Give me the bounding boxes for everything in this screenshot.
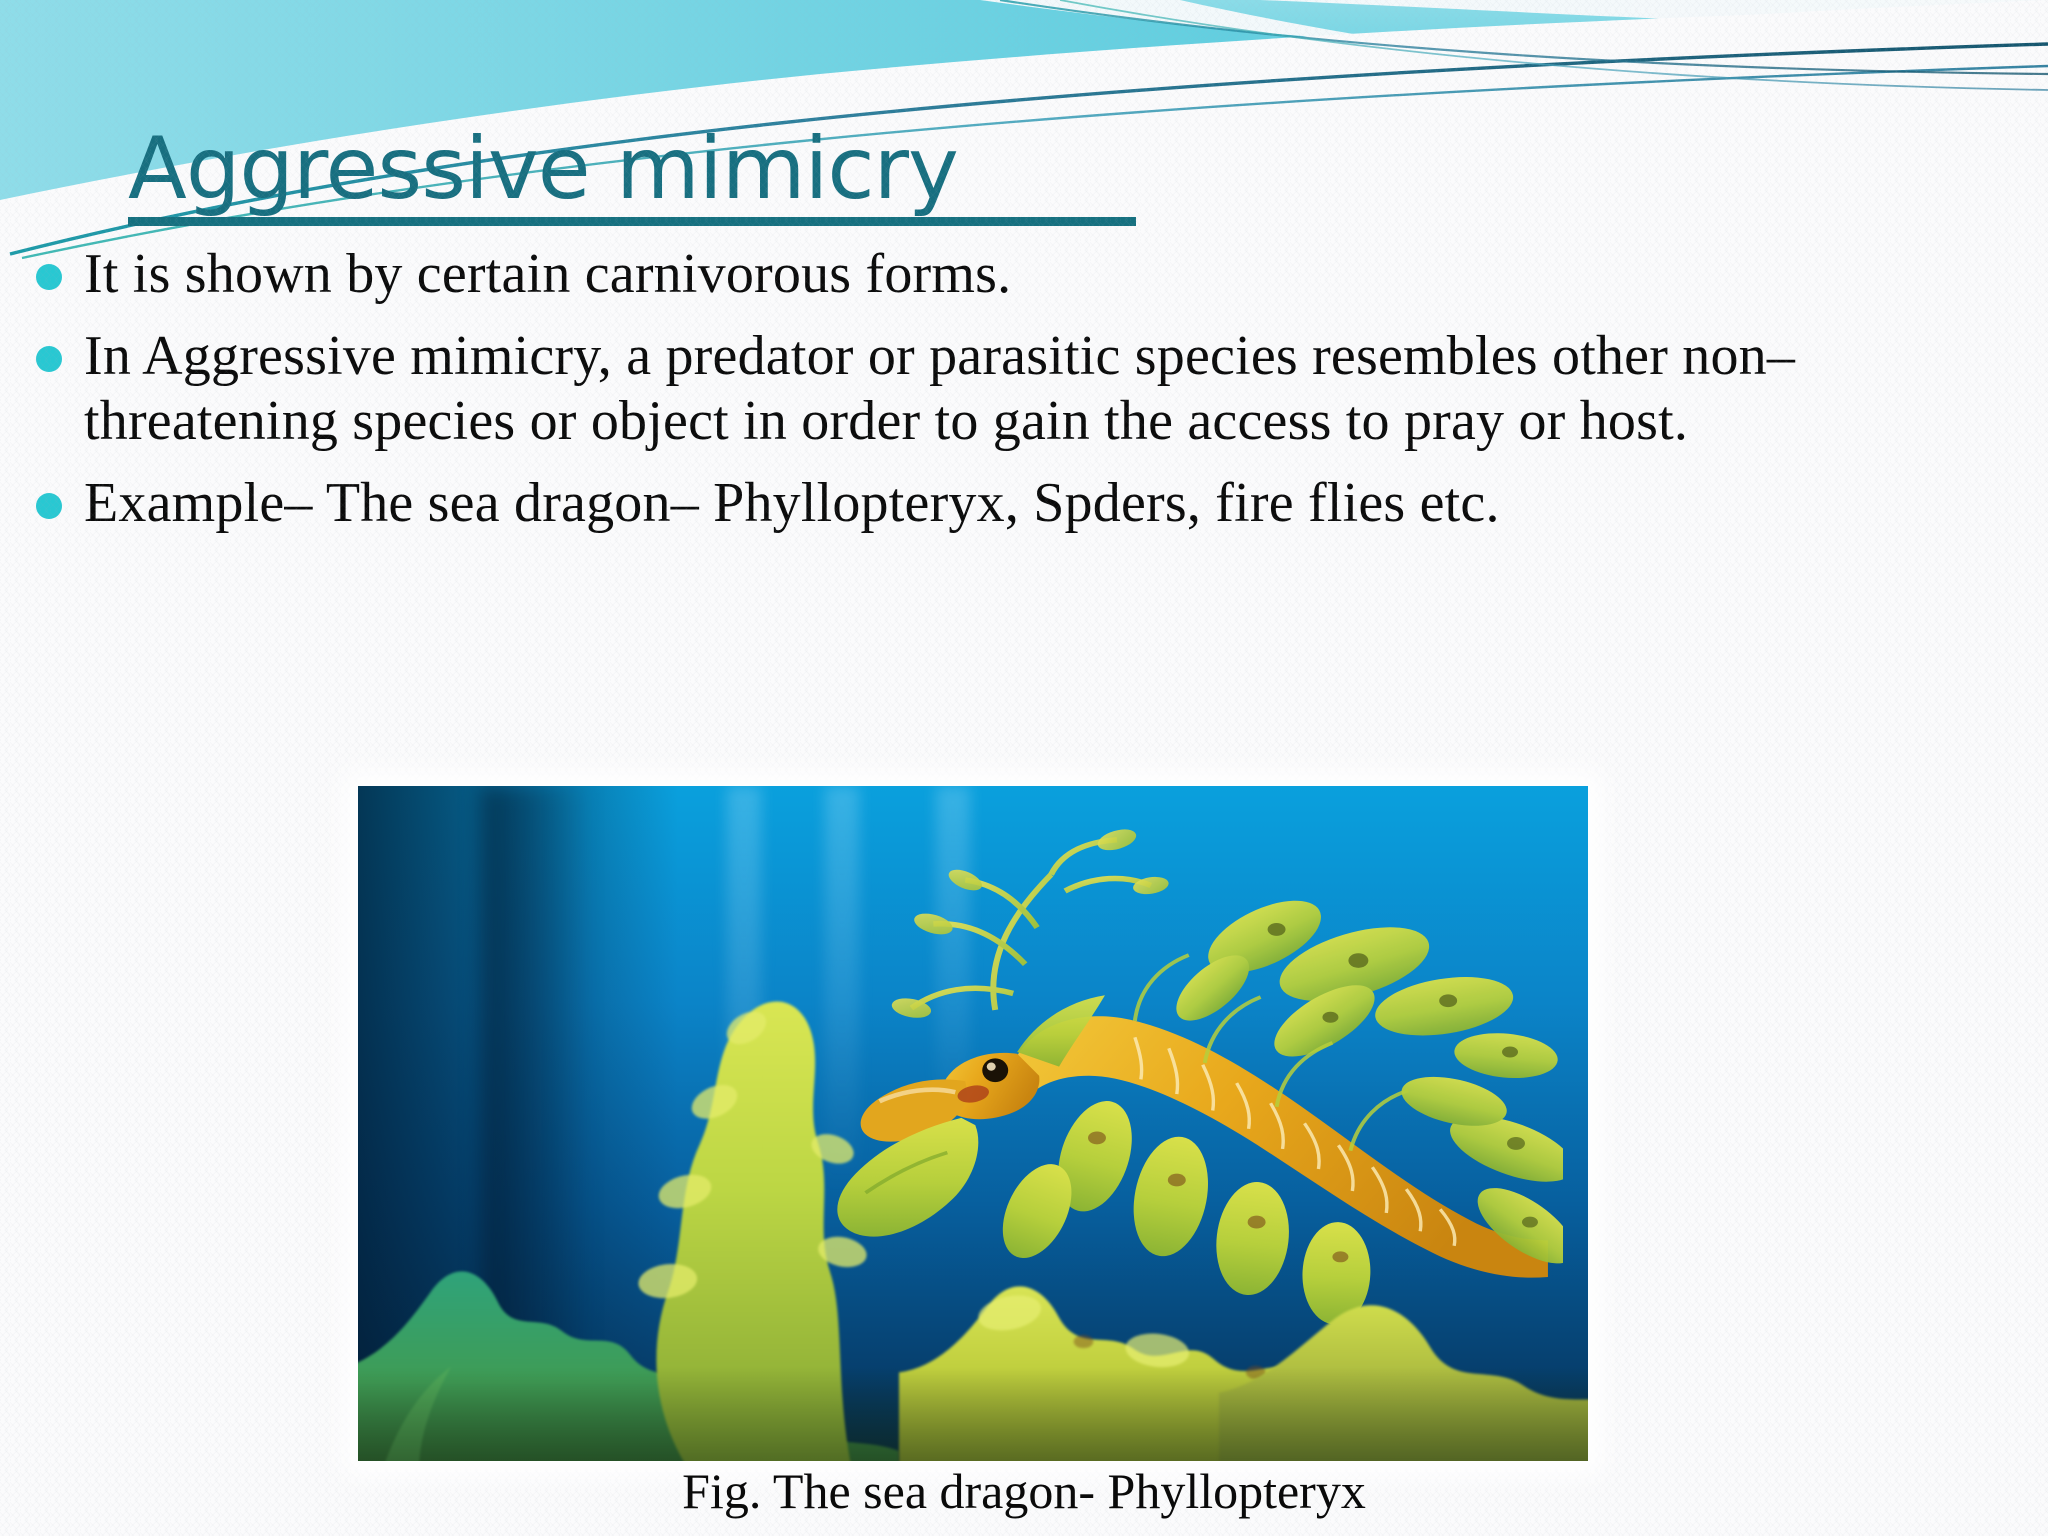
content-placeholder: It is shown by certain carnivorous forms… bbox=[18, 242, 2028, 552]
bullet-dot-icon bbox=[36, 493, 62, 519]
slide: Aggressive mimicry It is shown by certai… bbox=[0, 0, 2048, 1536]
sea-dragon-photo bbox=[358, 786, 1588, 1461]
list-item-text: Example– The sea dragon– Phyllopteryx, S… bbox=[84, 471, 1500, 537]
bullet-dot-icon bbox=[36, 264, 62, 290]
list-item: It is shown by certain carnivorous forms… bbox=[18, 242, 2028, 308]
list-item: In Aggressive mimicry, a predator or par… bbox=[18, 324, 2028, 455]
list-item-text: In Aggressive mimicry, a predator or par… bbox=[84, 324, 2024, 455]
figure-caption: Fig. The sea dragon- Phyllopteryx bbox=[0, 1462, 2048, 1520]
bullet-dot-icon bbox=[36, 346, 62, 372]
title-block: Aggressive mimicry bbox=[128, 128, 1136, 226]
figure-image-frame bbox=[358, 786, 1588, 1461]
list-item-text: It is shown by certain carnivorous forms… bbox=[84, 242, 1011, 308]
list-item: Example– The sea dragon– Phyllopteryx, S… bbox=[18, 471, 2028, 537]
photo-bottom-vignette bbox=[358, 1367, 1588, 1462]
page-title: Aggressive mimicry bbox=[128, 128, 1136, 211]
